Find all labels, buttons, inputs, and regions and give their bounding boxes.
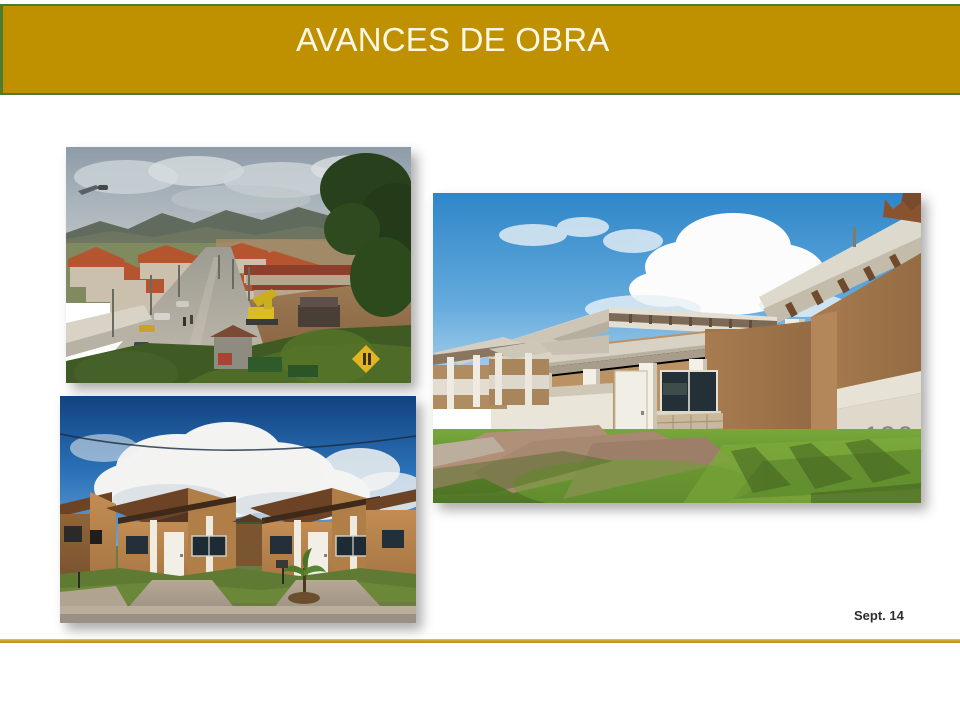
slide-canvas: AVANCES DE OBRA [0,0,960,720]
page-title: AVANCES DE OBRA [296,18,856,62]
aerial-development-image [66,147,411,383]
footer-divider-line [0,639,960,643]
photo-aerial-development-view [66,147,411,383]
houses-row-image [60,396,416,623]
photo-finished-houses-row [60,396,416,623]
date-label: Sept. 14 [854,608,904,623]
house-closeup-image: 196 [433,193,921,503]
title-bar-left-edge [0,6,3,93]
photo-house-closeup-porch: 196 [433,193,921,503]
